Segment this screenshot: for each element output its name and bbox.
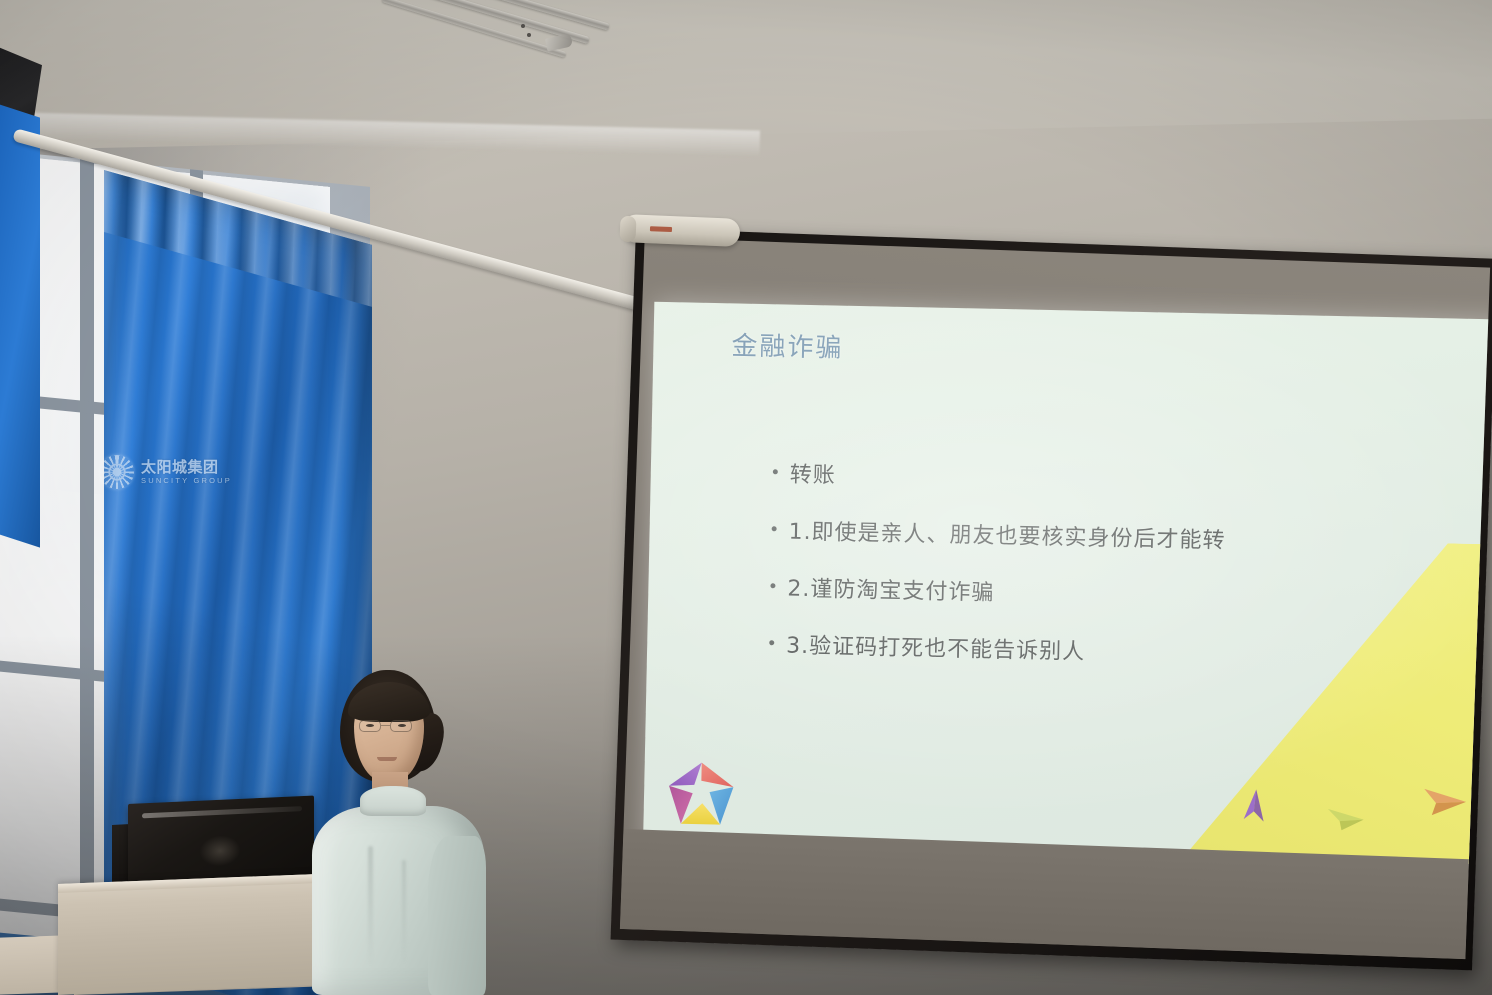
list-item: 1.即使是亲人、朋友也要核实身份后才能转 [771, 513, 1392, 558]
projector-screen-surface: 金融诈骗 转账 1.即使是亲人、朋友也要核实身份后才能转 2.谨防淘宝支付诈骗 [620, 237, 1490, 959]
tube-mount-dot [521, 24, 525, 28]
bullet-dot-icon [772, 526, 777, 531]
monitor-reflection [200, 835, 240, 867]
list-item: 转账 [772, 456, 1393, 501]
presenter-arm [428, 836, 486, 995]
glasses-lens [390, 720, 412, 732]
classroom-photo: 金融诈骗 转账 1.即使是亲人、朋友也要核实身份后才能转 2.谨防淘宝支付诈骗 [0, 0, 1492, 995]
presenter [310, 660, 488, 995]
bullet-text: 3.验证码打死也不能告诉别人 [786, 628, 1086, 666]
glasses-icon [359, 720, 417, 732]
presenter-mouth [377, 757, 397, 761]
turtleneck-collar [360, 786, 426, 816]
bullet-dot-icon [769, 640, 774, 645]
glasses-bridge [381, 725, 390, 726]
slide-title: 金融诈骗 [731, 325, 844, 364]
tube-mount-dot [527, 33, 531, 37]
sweater-fold [402, 860, 406, 964]
paper-plane-purple-icon [1240, 789, 1271, 824]
screen-roller-housing [621, 214, 740, 247]
bullet-text: 转账 [789, 457, 836, 490]
screen-housing-cap [619, 216, 636, 243]
bullet-dot-icon [770, 583, 775, 588]
list-item: 3.验证码打死也不能告诉别人 [769, 627, 1390, 672]
paper-plane-orange-icon [1422, 785, 1469, 818]
bullet-dot-icon [773, 469, 778, 474]
glasses-lens [359, 720, 381, 732]
list-item: 2.谨防淘宝支付诈骗 [770, 570, 1391, 615]
projected-slide: 金融诈骗 转账 1.即使是亲人、朋友也要核实身份后才能转 2.谨防淘宝支付诈骗 [643, 302, 1490, 865]
monitor-highlight [142, 806, 302, 818]
projector-screen-frame: 金融诈骗 转账 1.即使是亲人、朋友也要核实身份后才能转 2.谨防淘宝支付诈骗 [611, 228, 1492, 970]
paper-plane-green-icon [1327, 805, 1366, 832]
bullet-text: 2.谨防淘宝支付诈骗 [787, 571, 995, 607]
bullet-text: 1.即使是亲人、朋友也要核实身份后才能转 [788, 514, 1226, 555]
slide-bullet-list: 转账 1.即使是亲人、朋友也要核实身份后才能转 2.谨防淘宝支付诈骗 3.验证码… [768, 456, 1393, 697]
colored-pentagon-ring-icon [665, 759, 736, 830]
housing-brand-label [650, 226, 672, 232]
curtain-edge [0, 104, 40, 548]
sweater-fold [368, 846, 373, 966]
